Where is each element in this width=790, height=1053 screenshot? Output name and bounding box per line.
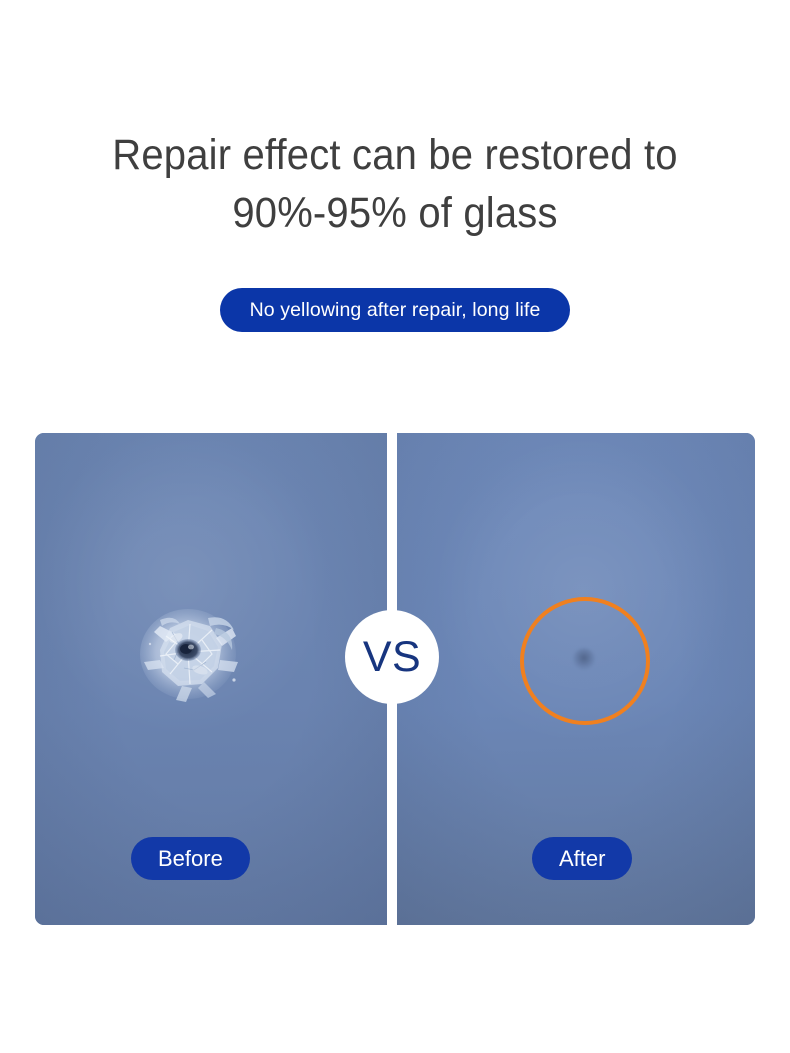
after-label-tag: After (532, 837, 632, 880)
subtitle-badge-container: No yellowing after repair, long life (0, 288, 790, 332)
page-title: Repair effect can be restored to 90%-95%… (28, 126, 763, 242)
subtitle-badge: No yellowing after repair, long life (220, 288, 571, 332)
page-title-line-2: 90%-95% of glass (28, 184, 763, 242)
page-title-line-1: Repair effect can be restored to (28, 126, 763, 184)
before-label-tag: Before (131, 837, 250, 880)
vs-badge: VS (345, 610, 439, 704)
